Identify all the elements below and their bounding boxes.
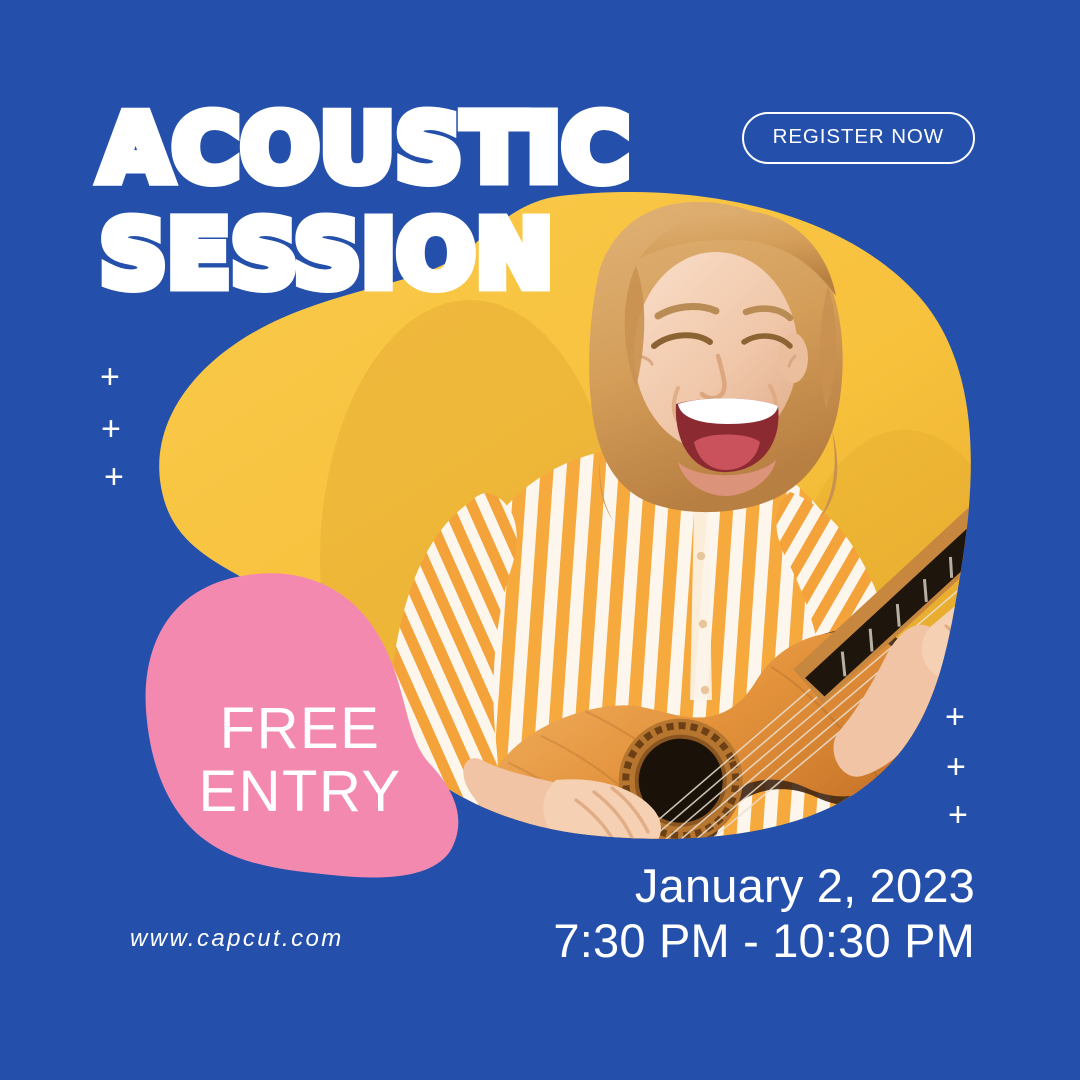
page-title: ACOUSTIC SESSION — [100, 104, 630, 300]
free-entry-badge: FREE ENTRY — [160, 698, 440, 823]
event-time: 7:30 PM - 10:30 PM — [553, 913, 975, 968]
event-date: January 2, 2023 — [553, 858, 975, 913]
plus-decoration-left-2: + — [101, 412, 121, 446]
title-line-acoustic: ACOUSTIC — [100, 104, 630, 194]
event-datetime: January 2, 2023 7:30 PM - 10:30 PM — [553, 858, 975, 969]
plus-decoration-left-3: + — [104, 460, 124, 494]
plus-decoration-right-3: + — [948, 798, 968, 832]
poster-canvas: ACOUSTIC SESSION REGISTER NOW + + + + + … — [0, 0, 1080, 1080]
free-entry-line-2: ENTRY — [160, 761, 440, 824]
register-now-button[interactable]: REGISTER NOW — [742, 112, 975, 164]
plus-decoration-left-1: + — [100, 360, 120, 394]
plus-decoration-right-1: + — [945, 700, 965, 734]
free-entry-line-1: FREE — [160, 698, 440, 761]
website-url[interactable]: www.capcut.com — [130, 925, 344, 953]
title-line-session: SESSION — [100, 210, 630, 300]
plus-decoration-right-2: + — [946, 750, 966, 784]
